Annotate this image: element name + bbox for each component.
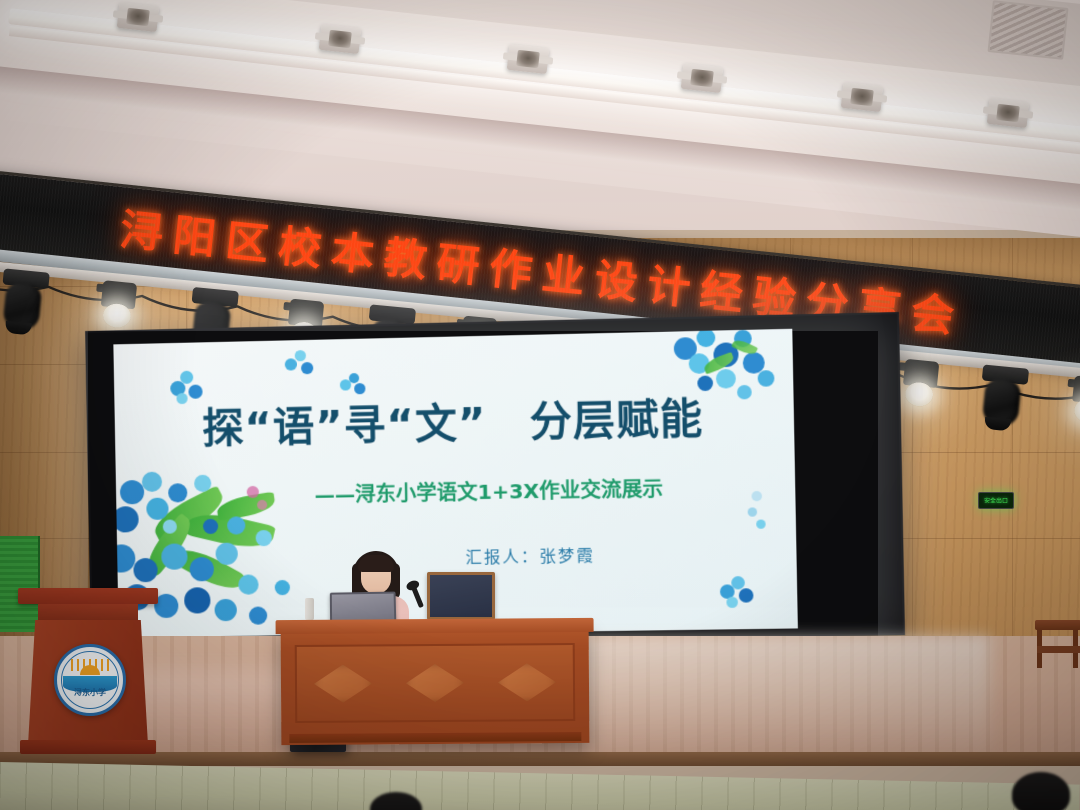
water-cup xyxy=(305,598,314,620)
podium-top xyxy=(18,588,158,604)
stage-edge-trim xyxy=(0,752,1080,766)
ceiling-downlight-icon xyxy=(987,98,1030,128)
desk-front-panel xyxy=(295,643,576,723)
exit-sign-right: 安全出口 xyxy=(978,492,1014,509)
ceiling-downlight-icon xyxy=(117,2,160,32)
desk-base-trim xyxy=(289,732,581,743)
ac-vent-icon xyxy=(987,0,1068,60)
podium-neck xyxy=(38,604,138,620)
desk-top-surface xyxy=(276,618,594,634)
ceiling-downlight-icon xyxy=(319,24,362,54)
ceiling-downlight-icon xyxy=(507,44,550,74)
floor-light-reflection xyxy=(560,636,990,756)
flower-accent-top-center xyxy=(281,350,322,387)
desk-diamond-ornament xyxy=(498,663,556,701)
school-emblem-label: 浔东小学 xyxy=(57,687,123,698)
podium: 浔东小学 xyxy=(22,588,154,768)
exit-sign-right-label: 安全出口 xyxy=(984,496,1008,505)
presenter-desk xyxy=(281,625,590,745)
stage-apron-panel xyxy=(0,762,1080,810)
auditorium-scene: 安全出口 安全出口 浔阳区校本教研作业设计经验分享会 xyxy=(0,0,1080,810)
desk-diamond-ornament xyxy=(406,664,464,702)
podium-base xyxy=(20,740,156,754)
school-emblem-icon: 浔东小学 xyxy=(54,644,126,716)
ceiling-downlight-icon xyxy=(841,82,884,112)
desk-diamond-ornament xyxy=(314,664,372,702)
desk-monitor-icon xyxy=(427,572,495,620)
side-chair xyxy=(1035,620,1080,668)
presenter-hair-front xyxy=(358,555,394,572)
flower-accent-bottom-right xyxy=(718,576,760,611)
led-display-screen: 探“语”寻“文” 分层赋能 ——浔东小学语文1+3X作业交流展示 汇报人：张梦霞 xyxy=(85,312,905,646)
ceiling-downlight-icon xyxy=(681,63,724,93)
audience-head xyxy=(1012,772,1070,810)
